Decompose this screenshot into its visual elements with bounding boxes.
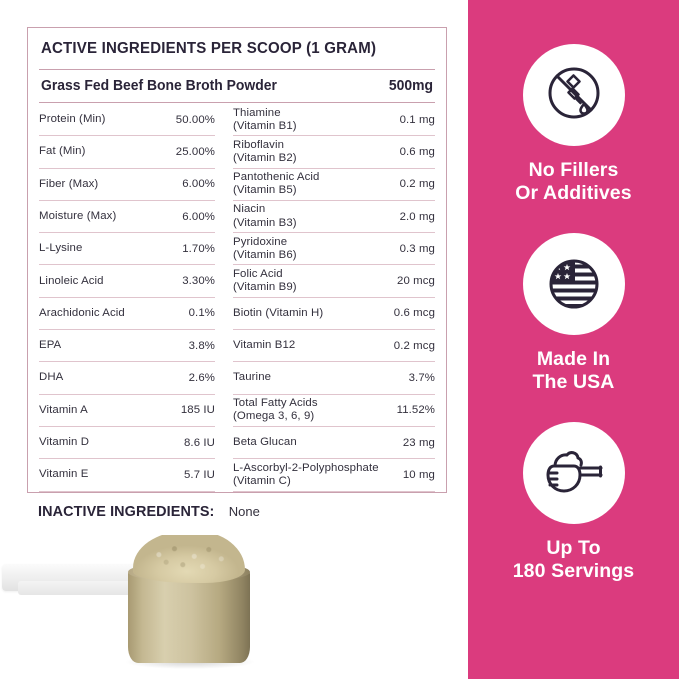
ingredient-value: 6.00% (182, 211, 215, 223)
ingredient-value: 3.7% (409, 372, 435, 384)
ingredient-name: Fiber (Max) (39, 178, 98, 191)
ingredient-name: Pantothenic Acid (Vitamin B5) (233, 171, 319, 197)
ingredient-value: 0.1% (189, 307, 215, 319)
ingredient-name-main: Pyridoxine (233, 236, 287, 248)
table-row: Niacin (Vitamin B3) 2.0 mg (233, 201, 435, 233)
primary-ingredient-name: Grass Fed Beef Bone Broth Powder (41, 78, 277, 94)
badge-label: Up To 180 Servings (513, 537, 635, 583)
table-row: Total Fatty Acids (Omega 3, 6, 9) 11.52% (233, 395, 435, 427)
measuring-scoop-icon (541, 444, 607, 502)
ingredient-column-left: Protein (Min) 50.00% Fat (Min) 25.00% Fi… (39, 104, 215, 492)
feature-badges-panel: No Fillers Or Additives (468, 0, 679, 679)
ingredients-panel: ACTIVE INGREDIENTS PER SCOOP (1 GRAM) Gr… (0, 0, 468, 679)
ingredient-columns: Protein (Min) 50.00% Fat (Min) 25.00% Fi… (39, 103, 435, 492)
ingredient-name-sub: (Vitamin B3) (233, 217, 297, 230)
ingredient-name: Thiamine (Vitamin B1) (233, 107, 297, 133)
ingredient-name: Biotin (Vitamin H) (233, 307, 323, 320)
badge-icon-circle (523, 422, 625, 524)
ingredient-value: 0.2 mcg (394, 340, 435, 352)
table-row: L-Ascorbyl-2-Polyphosphate (Vitamin C) 1… (233, 459, 435, 491)
ingredient-name: Vitamin D (39, 436, 89, 449)
ingredient-value: 2.0 mg (400, 211, 435, 223)
ingredient-name: Folic Acid (Vitamin B9) (233, 268, 297, 294)
inactive-ingredients: INACTIVE INGREDIENTS: None (38, 503, 260, 520)
ingredient-value: 6.00% (182, 178, 215, 190)
ingredient-value: 0.2 mg (400, 178, 435, 190)
ingredient-name: L-Ascorbyl-2-Polyphosphate (Vitamin C) (233, 462, 379, 488)
ingredient-name: Arachidonic Acid (39, 307, 125, 320)
badge-label: No Fillers Or Additives (515, 159, 631, 205)
ingredient-value: 11.52% (397, 404, 435, 416)
ingredient-name: Moisture (Max) (39, 210, 116, 223)
no-dropper-additives-icon (543, 64, 605, 126)
primary-ingredient-value: 500mg (389, 78, 433, 94)
ingredient-name-sub: (Vitamin B2) (233, 152, 297, 165)
ingredient-name: Vitamin E (39, 468, 88, 481)
ingredient-name: Vitamin B12 (233, 339, 295, 352)
ingredient-name: EPA (39, 339, 61, 352)
ingredient-name: Riboflavin (Vitamin B2) (233, 139, 297, 165)
table-title: ACTIVE INGREDIENTS PER SCOOP (1 GRAM) (39, 28, 423, 69)
ingredient-value: 50.00% (176, 114, 215, 126)
table-row: DHA 2.6% (39, 362, 215, 394)
table-row: Taurine 3.7% (233, 362, 435, 394)
scoop-cup (128, 570, 250, 663)
ingredient-name: L-Lysine (39, 242, 82, 255)
ingredient-name: Vitamin A (39, 404, 88, 417)
badge-icon-circle (523, 233, 625, 335)
ingredient-name-sub: (Vitamin B1) (233, 120, 297, 133)
table-row: Protein (Min) 50.00% (39, 104, 215, 136)
ingredient-name: Niacin (Vitamin B3) (233, 203, 297, 229)
ingredient-value: 0.6 mg (400, 146, 435, 158)
table-row: Vitamin D 8.6 IU (39, 427, 215, 459)
table-row: Arachidonic Acid 0.1% (39, 298, 215, 330)
ingredient-value: 0.3 mg (400, 243, 435, 255)
table-row: Riboflavin (Vitamin B2) 0.6 mg (233, 136, 435, 168)
ingredient-value: 0.6 mcg (394, 307, 435, 319)
table-row: Fat (Min) 25.00% (39, 136, 215, 168)
table-row: EPA 3.8% (39, 330, 215, 362)
ingredient-name-sub: (Omega 3, 6, 9) (233, 410, 318, 423)
ingredient-value: 3.30% (182, 275, 215, 287)
scoop-handle-lower (18, 581, 138, 595)
table-row: L-Lysine 1.70% (39, 233, 215, 265)
ingredient-name-sub: (Vitamin B6) (233, 249, 297, 262)
ingredient-name: DHA (39, 371, 63, 384)
usa-flag-circle-icon (543, 253, 605, 315)
table-row: Vitamin A 185 IU (39, 395, 215, 427)
ingredient-name-main: Riboflavin (233, 139, 284, 151)
ingredient-name: Fat (Min) (39, 145, 85, 158)
primary-ingredient-row: Grass Fed Beef Bone Broth Powder 500mg (39, 70, 435, 102)
ingredient-name: Protein (Min) (39, 113, 106, 126)
ingredient-value: 2.6% (189, 372, 215, 384)
ingredient-name: Beta Glucan (233, 436, 297, 449)
table-row: Biotin (Vitamin H) 0.6 mcg (233, 298, 435, 330)
ingredient-value: 5.7 IU (184, 469, 215, 481)
ingredient-name-main: Pantothenic Acid (233, 171, 319, 183)
ingredient-value: 25.00% (176, 146, 215, 158)
ingredient-name: Pyridoxine (Vitamin B6) (233, 236, 297, 262)
table-row: Vitamin B12 0.2 mcg (233, 330, 435, 362)
inactive-ingredients-value: None (229, 504, 260, 519)
supplement-label-infographic: ACTIVE INGREDIENTS PER SCOOP (1 GRAM) Gr… (0, 0, 679, 679)
table-row: Fiber (Max) 6.00% (39, 169, 215, 201)
table-row: Thiamine (Vitamin B1) 0.1 mg (233, 104, 435, 136)
badge-icon-circle (523, 44, 625, 146)
ingredient-name-main: Total Fatty Acids (233, 397, 318, 409)
badge-made-in-usa: Made In The USA (468, 233, 679, 394)
badge-no-fillers: No Fillers Or Additives (468, 44, 679, 205)
ingredient-column-right: Thiamine (Vitamin B1) 0.1 mg Riboflavin … (233, 104, 435, 492)
ingredient-value: 23 mg (403, 437, 435, 449)
ingredient-value: 0.1 mg (400, 114, 435, 126)
inactive-ingredients-label: INACTIVE INGREDIENTS: (38, 503, 214, 520)
badge-servings: Up To 180 Servings (468, 422, 679, 583)
measuring-scoop-photo (0, 535, 290, 679)
ingredient-name-sub: (Vitamin B9) (233, 281, 297, 294)
ingredient-value: 3.8% (189, 340, 215, 352)
table-row: Pantothenic Acid (Vitamin B5) 0.2 mg (233, 169, 435, 201)
table-row: Linoleic Acid 3.30% (39, 265, 215, 297)
ingredient-value: 185 IU (181, 404, 215, 416)
ingredient-value: 10 mg (403, 469, 435, 481)
ingredient-name: Taurine (233, 371, 271, 384)
ingredient-name-main: L-Ascorbyl-2-Polyphosphate (233, 462, 379, 474)
table-row: Moisture (Max) 6.00% (39, 201, 215, 233)
table-row: Vitamin E 5.7 IU (39, 459, 215, 491)
table-row: Folic Acid (Vitamin B9) 20 mcg (233, 265, 435, 297)
badge-label: Made In The USA (533, 348, 615, 394)
ingredient-name-main: Thiamine (233, 107, 281, 119)
ingredient-value: 1.70% (182, 243, 215, 255)
table-row: Beta Glucan 23 mg (233, 427, 435, 459)
ingredient-name: Total Fatty Acids (Omega 3, 6, 9) (233, 397, 318, 423)
active-ingredients-table: ACTIVE INGREDIENTS PER SCOOP (1 GRAM) Gr… (27, 27, 447, 493)
ingredient-name-main: Niacin (233, 203, 265, 215)
ingredient-value: 8.6 IU (184, 437, 215, 449)
ingredient-name: Linoleic Acid (39, 275, 104, 288)
ingredient-name-sub: (Vitamin C) (233, 475, 379, 488)
ingredient-value: 20 mcg (397, 275, 435, 287)
table-row: Pyridoxine (Vitamin B6) 0.3 mg (233, 233, 435, 265)
ingredient-name-main: Folic Acid (233, 268, 283, 280)
ingredient-name-sub: (Vitamin B5) (233, 184, 319, 197)
